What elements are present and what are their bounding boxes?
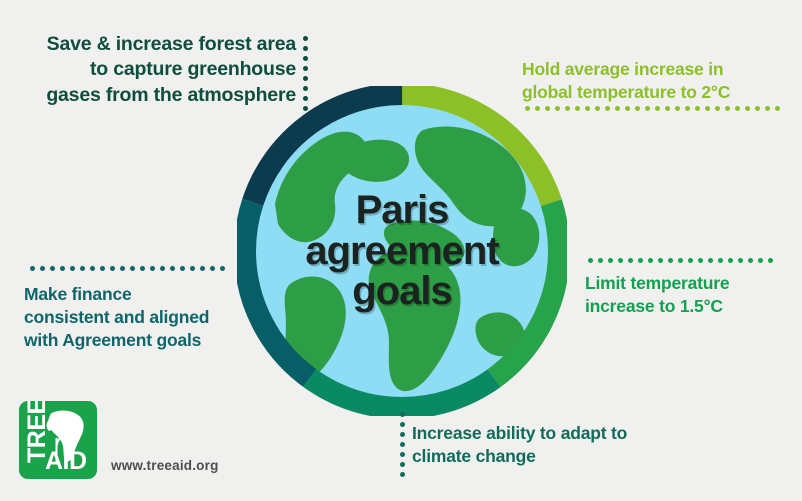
callout-temp15: Limit temperature increase to 1.5°C — [585, 272, 795, 318]
infographic-canvas: Paris agreement goals Save & increase fo… — [0, 0, 802, 501]
connector-dot — [775, 106, 780, 111]
connector-dot — [705, 106, 710, 111]
connector-dot — [728, 258, 733, 263]
connector-dot — [618, 258, 623, 263]
callout-forest-line-2: to capture greenhouse — [24, 57, 296, 82]
callout-temp2: Hold average increase in global temperat… — [522, 58, 784, 104]
callout-forest-line-3: gases from the atmosphere — [24, 83, 296, 108]
connector-dot — [120, 266, 125, 271]
connector-dot — [400, 432, 405, 437]
connector-dot — [80, 266, 85, 271]
connector-dot — [708, 258, 713, 263]
connector-dots-adapt — [400, 412, 405, 472]
connector-dot — [303, 56, 308, 61]
connector-dot — [400, 442, 405, 447]
connector-dot — [303, 46, 308, 51]
connector-dot — [695, 106, 700, 111]
connector-dot — [758, 258, 763, 263]
connector-dot — [755, 106, 760, 111]
connector-dot — [400, 422, 405, 427]
connector-dot — [400, 412, 405, 417]
connector-dot — [303, 76, 308, 81]
connector-dot — [598, 258, 603, 263]
logo-word-aid: AID — [45, 447, 87, 475]
callout-finance: Make finance consistent and aligned with… — [24, 283, 274, 351]
connector-dot — [608, 258, 613, 263]
callout-temp15-line-1: Limit temperature — [585, 272, 795, 295]
connector-dot — [588, 258, 593, 263]
connector-dot — [50, 266, 55, 271]
callout-adapt: Increase ability to adapt to climate cha… — [412, 422, 742, 468]
connector-dot — [400, 452, 405, 457]
connector-dot — [60, 266, 65, 271]
connector-dots-finance — [30, 266, 225, 271]
callout-forest: Save & increase forest area to capture g… — [24, 32, 296, 108]
connector-dot — [655, 106, 660, 111]
tree-aid-logo[interactable]: TREE AID — [19, 401, 97, 479]
connector-dot — [665, 106, 670, 111]
connector-dot — [615, 106, 620, 111]
connector-dot — [545, 106, 550, 111]
connector-dots-temp15 — [588, 258, 768, 263]
connector-dot — [535, 106, 540, 111]
connector-dots-forest — [303, 36, 308, 110]
connector-dot — [698, 258, 703, 263]
connector-dot — [303, 66, 308, 71]
connector-dot — [555, 106, 560, 111]
connector-dot — [658, 258, 663, 263]
connector-dot — [768, 258, 773, 263]
callout-finance-line-1: Make finance — [24, 283, 274, 306]
connector-dot — [605, 106, 610, 111]
callout-temp2-line-2: global temperature to 2°C — [522, 81, 784, 104]
connector-dot — [70, 266, 75, 271]
connector-dot — [575, 106, 580, 111]
connector-dot — [688, 258, 693, 263]
callout-adapt-line-2: climate change — [412, 445, 742, 468]
connector-dots-temp2 — [525, 106, 783, 111]
site-url[interactable]: www.treeaid.org — [111, 458, 219, 473]
connector-dot — [525, 106, 530, 111]
connector-dot — [685, 106, 690, 111]
callout-finance-line-2: consistent and aligned — [24, 306, 274, 329]
connector-dot — [200, 266, 205, 271]
connector-dot — [30, 266, 35, 271]
connector-dot — [565, 106, 570, 111]
connector-dot — [303, 36, 308, 41]
connector-dot — [150, 266, 155, 271]
connector-dot — [718, 258, 723, 263]
connector-dot — [668, 258, 673, 263]
connector-dot — [303, 96, 308, 101]
connector-dot — [100, 266, 105, 271]
connector-dot — [220, 266, 225, 271]
connector-dot — [90, 266, 95, 271]
connector-dot — [40, 266, 45, 271]
callout-forest-line-1: Save & increase forest area — [24, 32, 296, 57]
connector-dot — [675, 106, 680, 111]
connector-dot — [638, 258, 643, 263]
connector-dot — [645, 106, 650, 111]
connector-dot — [110, 266, 115, 271]
connector-dot — [585, 106, 590, 111]
connector-dot — [628, 258, 633, 263]
connector-dot — [735, 106, 740, 111]
connector-dot — [595, 106, 600, 111]
callout-adapt-line-1: Increase ability to adapt to — [412, 422, 742, 445]
connector-dot — [210, 266, 215, 271]
connector-dot — [738, 258, 743, 263]
connector-dot — [748, 258, 753, 263]
callout-finance-line-3: with Agreement goals — [24, 329, 274, 352]
connector-dot — [745, 106, 750, 111]
connector-dot — [303, 106, 308, 111]
connector-dot — [170, 266, 175, 271]
connector-dot — [400, 462, 405, 467]
connector-dot — [180, 266, 185, 271]
connector-dot — [715, 106, 720, 111]
connector-dot — [140, 266, 145, 271]
connector-dot — [303, 86, 308, 91]
connector-dot — [190, 266, 195, 271]
connector-dot — [400, 472, 405, 477]
connector-dot — [635, 106, 640, 111]
connector-dot — [678, 258, 683, 263]
callout-temp2-line-1: Hold average increase in — [522, 58, 784, 81]
connector-dot — [130, 266, 135, 271]
connector-dot — [160, 266, 165, 271]
connector-dot — [765, 106, 770, 111]
paris-goals-donut-chart — [237, 86, 567, 416]
connector-dot — [625, 106, 630, 111]
callout-temp15-line-2: increase to 1.5°C — [585, 295, 795, 318]
connector-dot — [725, 106, 730, 111]
connector-dot — [648, 258, 653, 263]
